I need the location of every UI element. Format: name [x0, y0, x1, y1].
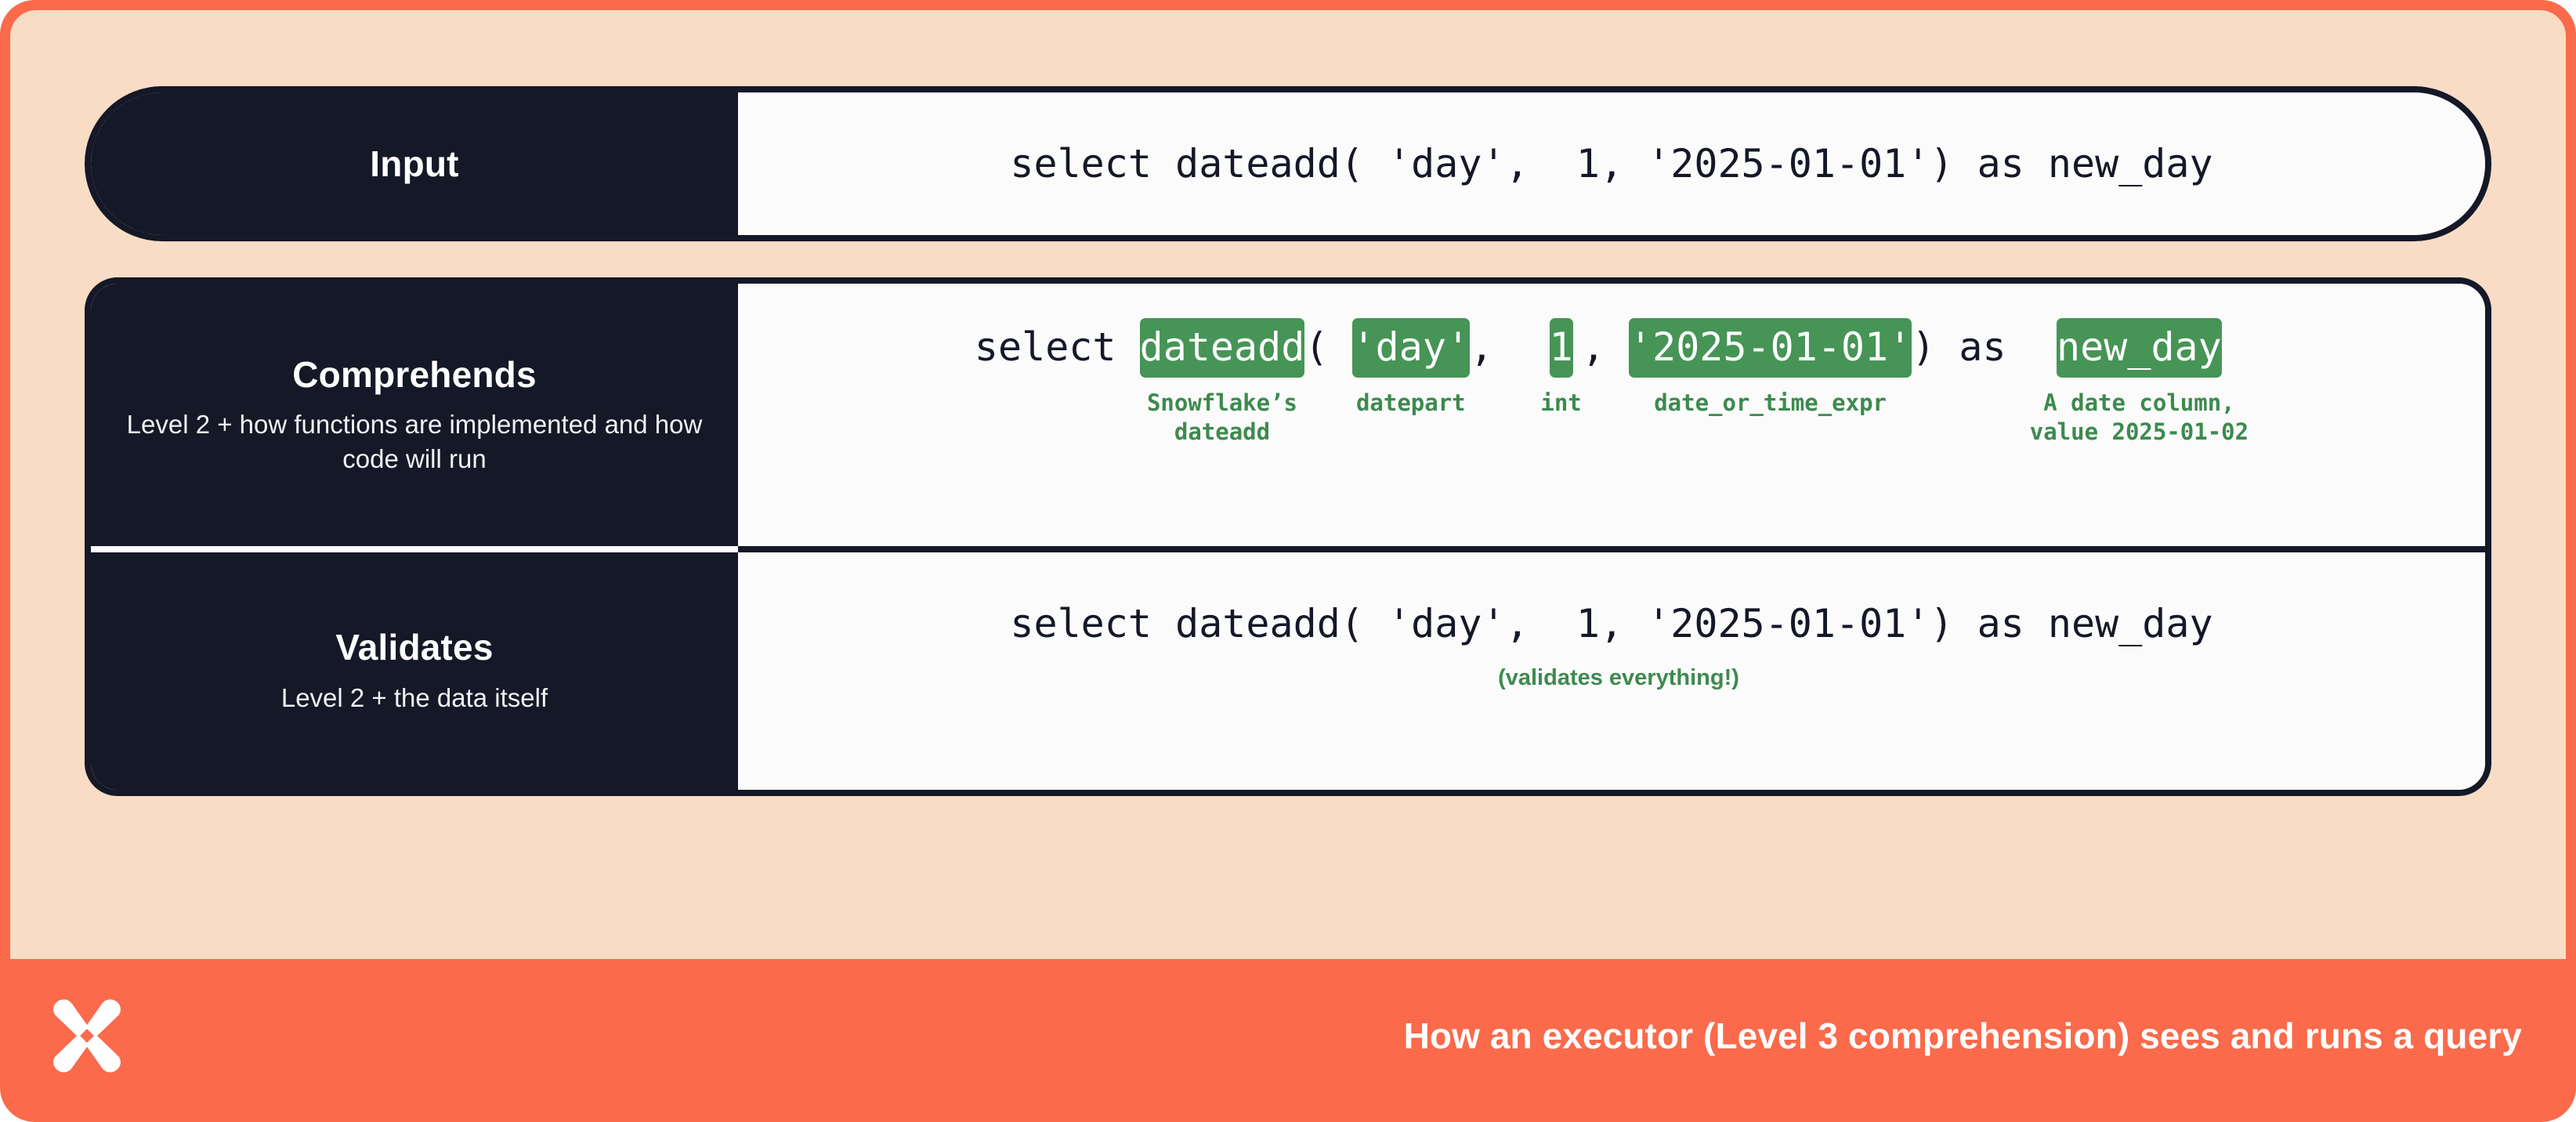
query-token-highlighted: '2025-01-01'date_or_time_expr	[1629, 318, 1912, 418]
validates-code: select dateadd( 'day', 1, '2025-01-01') …	[1010, 601, 2212, 646]
query-token-plain: select	[975, 318, 1140, 378]
input-code-pane: select dateadd( 'day', 1, '2025-01-01') …	[738, 92, 2485, 235]
query-token-annotation: Snowflake’s dateadd	[1147, 389, 1297, 447]
divider-right	[738, 546, 2485, 552]
input-label: Input	[370, 143, 458, 185]
query-token-highlighted: new_dayA date column, value 2025-01-02	[2030, 318, 2249, 447]
row-divider	[91, 546, 2485, 552]
comprehends-row: Comprehends Level 2 + how functions are …	[91, 284, 2485, 546]
validates-code-pane: select dateadd( 'day', 1, '2025-01-01') …	[738, 552, 2485, 790]
query-token-annotation: A date column, value 2025-01-02	[2030, 389, 2249, 447]
input-label-pane: Input	[91, 92, 738, 235]
query-token-text: '2025-01-01'	[1629, 318, 1912, 378]
query-token-text: ,	[1470, 318, 1540, 378]
input-card: Input select dateadd( 'day', 1, '2025-01…	[85, 86, 2491, 241]
validates-label: Validates	[335, 627, 493, 668]
footer-caption: How an executor (Level 3 comprehension) …	[128, 1015, 2522, 1057]
divider-left	[91, 546, 738, 552]
query-token-plain: ,	[1582, 318, 1629, 378]
query-token-text: 'day'	[1352, 318, 1471, 378]
comprehends-code-pane: select dateaddSnowflake’s dateadd( 'day'…	[738, 284, 2485, 546]
query-token-text: 1	[1550, 318, 1573, 378]
query-token-highlighted: dateaddSnowflake’s dateadd	[1140, 318, 1305, 447]
footer-bar: How an executor (Level 3 comprehension) …	[10, 959, 2566, 1112]
query-token-text: ,	[1582, 318, 1629, 378]
query-token-annotation: int	[1540, 389, 1581, 418]
levels-card: Comprehends Level 2 + how functions are …	[85, 277, 2491, 796]
input-code: select dateadd( 'day', 1, '2025-01-01') …	[738, 141, 2485, 186]
comprehends-label-pane: Comprehends Level 2 + how functions are …	[91, 284, 738, 546]
validates-note: (validates everything!)	[1498, 665, 1739, 691]
validates-label-pane: Validates Level 2 + the data itself	[91, 552, 738, 790]
outer-shell: Input select dateadd( 'day', 1, '2025-01…	[0, 0, 2576, 1122]
query-token-annotation: datepart	[1356, 389, 1466, 418]
comprehends-label: Comprehends	[292, 354, 536, 396]
annotated-query-line: select dateaddSnowflake’s dateadd( 'day'…	[975, 318, 2249, 447]
validates-row: Validates Level 2 + the data itself sele…	[91, 552, 2485, 790]
comprehends-subtitle: Level 2 + how functions are implemented …	[113, 407, 716, 476]
query-token-annotation: date_or_time_expr	[1654, 389, 1887, 418]
butterfly-x-logo-icon	[46, 995, 128, 1077]
query-token-text: (	[1304, 318, 1351, 378]
diagram-canvas: Input select dateadd( 'day', 1, '2025-01…	[0, 0, 2576, 1122]
query-token-text: dateadd	[1140, 318, 1305, 378]
cards-container: Input select dateadd( 'day', 1, '2025-01…	[85, 86, 2491, 796]
validates-subtitle: Level 2 + the data itself	[281, 681, 548, 715]
query-token-text: ) as	[1912, 318, 2030, 378]
query-token-text: new_day	[2057, 318, 2222, 378]
query-token-plain: ) as	[1912, 318, 2030, 378]
validates-query: select dateadd( 'day', 1, '2025-01-01') …	[738, 601, 2485, 691]
annotated-query: select dateaddSnowflake’s dateadd( 'day'…	[738, 318, 2485, 447]
query-token-highlighted: 1int	[1540, 318, 1581, 418]
query-token-plain: ,	[1470, 318, 1540, 378]
query-token-plain: (	[1304, 318, 1351, 378]
query-token-highlighted: 'day'datepart	[1352, 318, 1471, 418]
query-token-text: select	[975, 318, 1140, 378]
